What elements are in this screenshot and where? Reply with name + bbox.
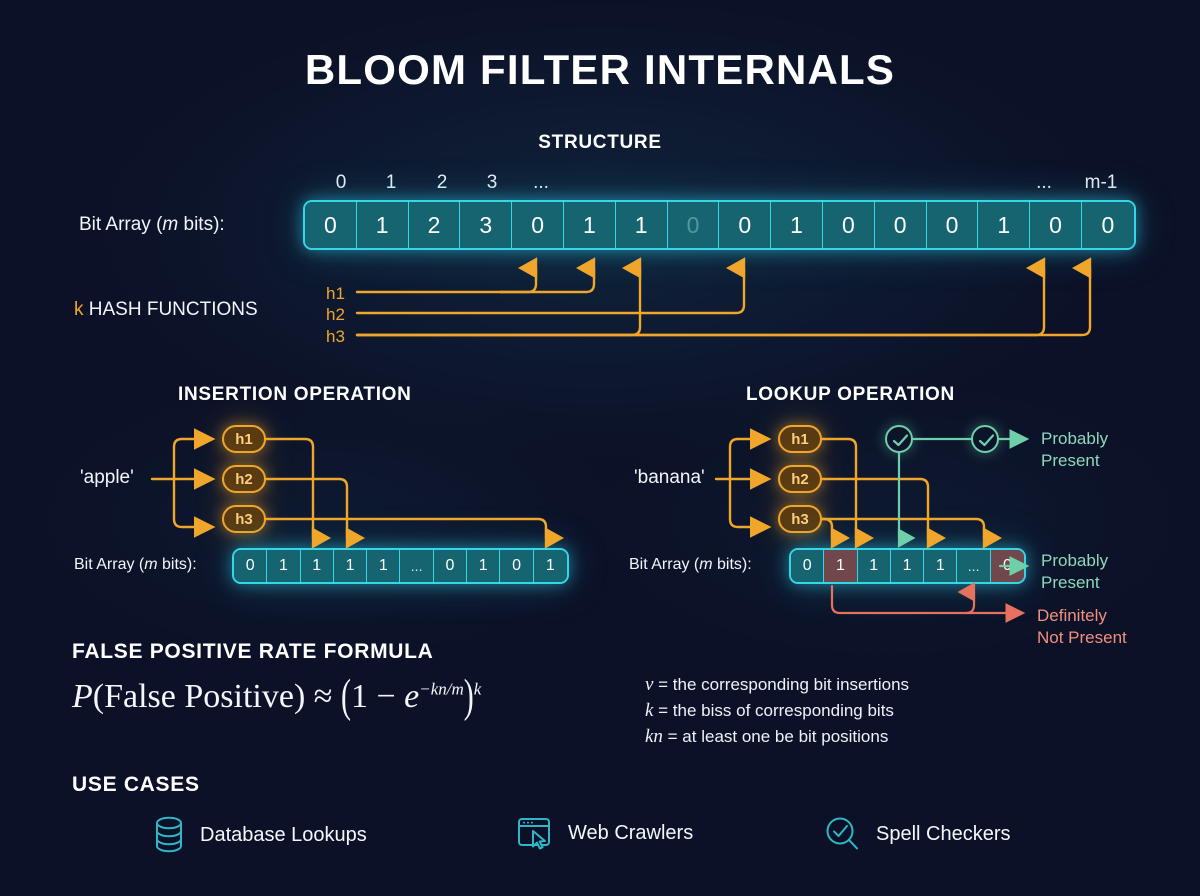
browser-cursor-icon — [516, 815, 554, 851]
bit-cell: 1 — [891, 550, 924, 582]
insertion-hash-pill-h3: h3 — [222, 505, 266, 533]
hash-functions-title: k HASH FUNCTIONS — [74, 299, 258, 321]
bit-cell: ... — [957, 550, 990, 582]
lookup-result-mid-line1: Probably — [1041, 550, 1108, 572]
bit-cell: 0 — [234, 550, 267, 582]
insertion-hash-pill-h2: h2 — [222, 465, 266, 493]
check-circle-icon-1 — [885, 425, 913, 453]
bit-cell: 1 — [616, 202, 668, 248]
bit-cell: 1 — [357, 202, 409, 248]
bit-cell: 3 — [460, 202, 512, 248]
bit-cell: ... — [400, 550, 433, 582]
formula-legend-row-0: v = the corresponding bit insertions — [645, 674, 909, 696]
lookup-bit-array: 01111...0 — [789, 548, 1026, 584]
check-circle-icon-2 — [971, 425, 999, 453]
bit-cell: 1 — [564, 202, 616, 248]
formula-paren-close: ) — [464, 671, 474, 724]
hash-functions-rest: HASH FUNCTIONS — [84, 299, 258, 320]
bit-cell: 0 — [668, 202, 720, 248]
formula-e: e — [404, 678, 419, 715]
bit-cell: 1 — [367, 550, 400, 582]
lookup-input-value: 'banana' — [634, 467, 705, 489]
insertion-bit-array: 01111...0101 — [232, 548, 569, 584]
formula-exponent: −kn/m — [419, 680, 464, 699]
index-label-1: 1 — [371, 172, 411, 194]
lookup-result-top-line2: Present — [1041, 450, 1108, 472]
use-case-label-database-lookups: Database Lookups — [200, 824, 367, 847]
insertion-bit-array-label-text: Bit Array (m bits): — [74, 556, 197, 573]
formula-p: P — [72, 678, 93, 715]
formula-approx: ≈ — [314, 678, 333, 715]
bit-cell: 1 — [267, 550, 300, 582]
bit-cell: 0 — [791, 550, 824, 582]
formula-arg: (False Positive) — [93, 678, 305, 715]
bit-cell: 1 — [301, 550, 334, 582]
index-label-ellipsis-right: ... — [1024, 172, 1064, 194]
bit-cell: 0 — [823, 202, 875, 248]
infographic-root: BLOOM FILTER INTERNALS STRUCTURE 0 1 2 3… — [0, 0, 1200, 896]
lookup-hash-pill-h2: h2 — [778, 465, 822, 493]
formula-one: 1 — [351, 678, 368, 715]
formula-legend-text-0: = the corresponding bit insertions — [653, 675, 909, 694]
lookup-bit-array-label-text: Bit Array (m bits): — [629, 556, 752, 573]
insertion-section-title: INSERTION OPERATION — [178, 384, 412, 406]
structure-hash-label-h2: h2 — [326, 305, 345, 325]
insertion-input-value: 'apple' — [80, 467, 134, 489]
bit-cell: 1 — [978, 202, 1030, 248]
formula-legend-text-1: = the biss of corresponding bits — [653, 701, 894, 720]
bit-cell: 1 — [467, 550, 500, 582]
index-label-ellipsis-left: ... — [521, 172, 561, 194]
lookup-result-negative: Definitely Not Present — [1037, 605, 1127, 649]
bit-cell: 0 — [719, 202, 771, 248]
formula-section-title: FALSE POSITIVE RATE FORMULA — [72, 640, 434, 664]
bit-cell: 1 — [534, 550, 567, 582]
lookup-section-title: LOOKUP OPERATION — [746, 384, 955, 406]
bit-cell: 0 — [500, 550, 533, 582]
formula-legend-row-2: kn = at least one be bit positions — [645, 726, 888, 748]
use-case-label-spell-checkers: Spell Checkers — [876, 823, 1011, 846]
bit-cell: 0 — [1082, 202, 1134, 248]
lookup-result-negative-line2: Not Present — [1037, 627, 1127, 649]
structure-bit-array: 0123011001000100 — [303, 200, 1136, 250]
lookup-result-top: Probably Present — [1041, 428, 1108, 472]
use-case-spell-checkers: Spell Checkers — [824, 815, 1011, 853]
bit-cell: 0 — [991, 550, 1024, 582]
structure-bit-array-label: Bit Array (m bits): — [79, 214, 225, 236]
structure-hash-label-h3: h3 — [326, 327, 345, 347]
structure-hash-label-h1: h1 — [326, 284, 345, 304]
lookup-hash-pill-h1: h1 — [778, 425, 822, 453]
bit-cell: 0 — [927, 202, 979, 248]
lookup-hash-pill-h3: h3 — [778, 505, 822, 533]
magnifier-check-icon — [824, 815, 862, 853]
insertion-hash-pill-h1: h1 — [222, 425, 266, 453]
use-case-label-web-crawlers: Web Crawlers — [568, 822, 693, 845]
bit-cell: 2 — [409, 202, 461, 248]
bit-cell: 0 — [512, 202, 564, 248]
index-label-0: 0 — [321, 172, 361, 194]
database-icon — [152, 815, 186, 855]
bit-cell: 1 — [771, 202, 823, 248]
false-positive-formula: P(False Positive) ≈ (1 − e−kn/m)k — [72, 678, 481, 716]
lookup-result-mid-line2: Present — [1041, 572, 1108, 594]
index-label-2: 2 — [422, 172, 462, 194]
use-cases-section-title: USE CASES — [72, 773, 200, 797]
structure-section-title: STRUCTURE — [0, 132, 1200, 154]
bit-cell: 1 — [334, 550, 367, 582]
lookup-bit-array-label: Bit Array (m bits): — [629, 556, 752, 574]
formula-paren-open: ( — [341, 671, 351, 724]
bit-cell: 1 — [858, 550, 891, 582]
bit-cell: 0 — [875, 202, 927, 248]
index-label-m-1: m-1 — [1071, 172, 1131, 194]
use-case-database-lookups: Database Lookups — [152, 815, 367, 855]
formula-power: k — [474, 680, 482, 699]
formula-legend-row-1: k = the biss of corresponding bits — [645, 700, 894, 722]
lookup-result-mid: Probably Present — [1041, 550, 1108, 594]
lookup-result-top-line1: Probably — [1041, 428, 1108, 450]
formula-minus: − — [376, 678, 395, 715]
bit-cell: 0 — [1030, 202, 1082, 248]
use-case-web-crawlers: Web Crawlers — [516, 815, 693, 851]
formula-legend-symbol-2: kn — [645, 726, 663, 747]
page-title: BLOOM FILTER INTERNALS — [0, 46, 1200, 94]
formula-legend-text-2: = at least one be bit positions — [663, 727, 888, 746]
insertion-bit-array-label: Bit Array (m bits): — [74, 556, 197, 574]
lookup-result-negative-line1: Definitely — [1037, 605, 1127, 627]
hash-functions-k: k — [74, 299, 84, 320]
index-label-3: 3 — [472, 172, 512, 194]
bit-cell: 1 — [824, 550, 857, 582]
bit-cell: 1 — [924, 550, 957, 582]
structure-bit-array-label-text: Bit Array (m bits): — [79, 214, 225, 235]
bit-cell: 0 — [434, 550, 467, 582]
bit-cell: 0 — [305, 202, 357, 248]
